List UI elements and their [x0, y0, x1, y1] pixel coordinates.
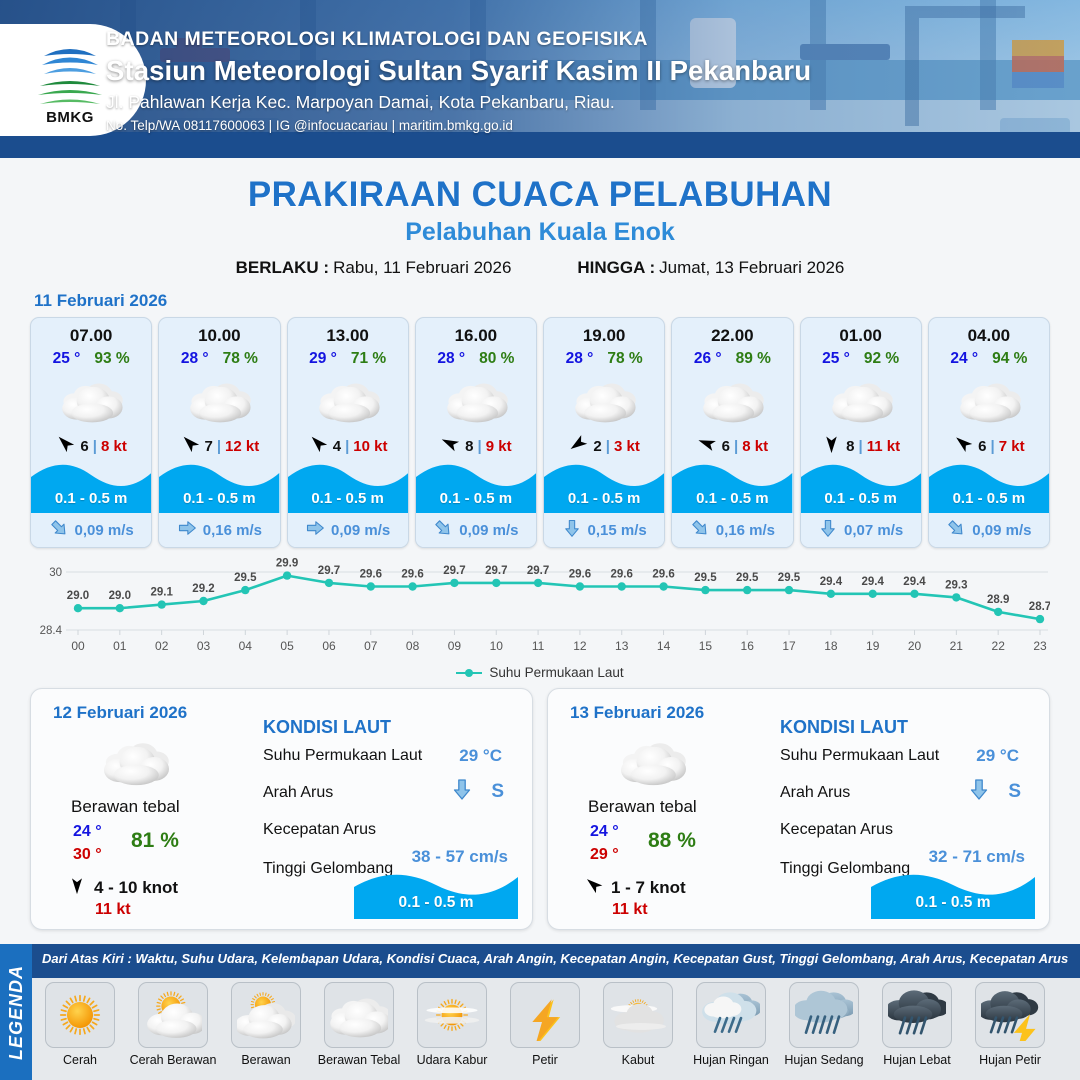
daily-weather-icon — [93, 733, 177, 794]
svg-text:29.4: 29.4 — [820, 576, 843, 588]
legend-items: Cerah Cerah Berawan — [36, 982, 1076, 1067]
legend-item-label: Cerah Berawan — [129, 1053, 217, 1067]
wind-direction-value: 7 — [205, 438, 213, 455]
legend-item-label: Hujan Petir — [966, 1053, 1054, 1067]
card-wind: 8 | 9 kt — [416, 431, 536, 461]
legend-icon-box — [882, 982, 952, 1048]
current-speed-value: 0,09 m/s — [459, 522, 518, 539]
sst-chart: 3028.429.00029.00129.10229.20329.50429.9… — [30, 558, 1050, 663]
svg-text:14: 14 — [657, 639, 671, 653]
svg-text:29.5: 29.5 — [778, 572, 801, 584]
daily-wave: 0.1 - 0.5 m — [871, 867, 1035, 919]
legend-icon-box — [789, 982, 859, 1048]
card-humidity: 89 % — [736, 350, 771, 368]
svg-text:22: 22 — [992, 639, 1006, 653]
svg-text:05: 05 — [280, 639, 294, 653]
sst-label: Suhu Permukaan Laut — [780, 747, 939, 765]
berlaku-value: Rabu, 11 Februari 2026 — [333, 258, 511, 277]
card-time: 16.00 — [416, 318, 536, 346]
svg-text:07: 07 — [364, 639, 378, 653]
weather-icon — [416, 371, 536, 429]
daily-wave-value: 0.1 - 0.5 m — [354, 894, 518, 912]
legend-item-label: Berawan Tebal — [315, 1053, 403, 1067]
card-temp-hum: 29 ° 71 % — [288, 350, 408, 368]
sst-legend-marker — [456, 668, 482, 678]
daily-gust: 11 kt — [95, 901, 131, 919]
legend-item: Hujan Lebat — [873, 982, 961, 1067]
legend-icon-box — [510, 982, 580, 1048]
weather-icon — [672, 371, 792, 429]
card-humidity: 94 % — [992, 350, 1027, 368]
legend-tab: LEGENDA — [0, 944, 32, 1080]
svg-text:03: 03 — [197, 639, 211, 653]
card-wind: 8 | 11 kt — [801, 431, 921, 461]
hourly-forecast-row: 07.00 25 ° 93 % — [0, 317, 1080, 548]
wind-direction-value: 4 — [333, 438, 341, 455]
wind-direction-value: 6 — [978, 438, 986, 455]
card-temperature: 25 ° — [53, 350, 81, 368]
wind-speed-value: 3 kt — [614, 438, 640, 455]
weather-icon — [288, 371, 408, 429]
daily-temp-max: 30 ° — [73, 846, 102, 864]
legend-icon-box — [231, 982, 301, 1048]
card-current: 0,09 m/s — [929, 513, 1049, 547]
header-bottom-bar — [0, 132, 1080, 158]
wind-direction-arrow-icon — [440, 433, 461, 459]
svg-text:04: 04 — [239, 639, 253, 653]
card-current: 0,09 m/s — [288, 513, 408, 547]
svg-text:29.2: 29.2 — [192, 583, 214, 595]
card-temperature: 24 ° — [950, 350, 978, 368]
card-temp-hum: 24 ° 94 % — [929, 350, 1049, 368]
weather-icon — [544, 371, 664, 429]
wind-divider: | — [859, 438, 863, 455]
card-humidity: 78 % — [223, 350, 258, 368]
legend-icon-box — [603, 982, 673, 1048]
svg-text:29.7: 29.7 — [443, 565, 465, 577]
sst-value: 29 °C — [459, 746, 502, 766]
legend-item-label: Udara Kabur — [408, 1053, 496, 1067]
card-time: 22.00 — [672, 318, 792, 346]
wind-direction-value: 2 — [593, 438, 601, 455]
card-temperature: 26 ° — [694, 350, 722, 368]
card-wind: 6 | 8 kt — [672, 431, 792, 461]
daily-condition: Berawan tebal — [588, 797, 697, 817]
svg-text:29.5: 29.5 — [694, 572, 717, 584]
wind-direction-arrow-icon — [568, 433, 589, 459]
weather-icon — [31, 371, 151, 429]
legend-item: Kabut — [594, 982, 682, 1067]
current-speed-value: 0,09 m/s — [972, 522, 1031, 539]
card-wind: 2 | 3 kt — [544, 431, 664, 461]
sst-chart-legend: Suhu Permukaan Laut — [0, 665, 1080, 680]
daily-wind-direction-arrow-icon — [584, 875, 604, 900]
wind-direction-arrow-icon — [308, 433, 329, 459]
card-time: 07.00 — [31, 318, 151, 346]
current-speed-value: 32 - 71 cm/s — [929, 847, 1025, 867]
current-speed-label: Kecepatan Arus — [780, 821, 893, 839]
bmkg-logo-text: BMKG — [22, 109, 118, 126]
current-speed-label: Kecepatan Arus — [263, 821, 376, 839]
card-temperature: 28 ° — [181, 350, 209, 368]
forecast-card[interactable]: 01.00 25 ° 92 % — [800, 317, 922, 548]
svg-text:19: 19 — [866, 639, 880, 653]
current-direction-arrow-icon — [562, 518, 582, 543]
svg-text:29.5: 29.5 — [736, 572, 759, 584]
svg-text:28.4: 28.4 — [40, 625, 63, 637]
daily-wave-value: 0.1 - 0.5 m — [871, 894, 1035, 912]
card-wind: 6 | 7 kt — [929, 431, 1049, 461]
card-time: 10.00 — [159, 318, 279, 346]
legend-item: Hujan Petir — [966, 982, 1054, 1067]
daily-wind-direction-arrow-icon — [67, 875, 87, 900]
legend-item: Petir — [501, 982, 589, 1067]
card-wave: 0.1 - 0.5 m — [416, 459, 536, 513]
page-subtitle: Pelabuhan Kuala Enok — [0, 218, 1080, 247]
legend-item: Cerah — [36, 982, 124, 1067]
weather-icon — [801, 371, 921, 429]
legend-item: Berawan Tebal — [315, 982, 403, 1067]
card-time: 01.00 — [801, 318, 921, 346]
current-direction-arrow-icon — [690, 518, 710, 543]
svg-text:28.9: 28.9 — [987, 594, 1009, 606]
current-speed-value: 0,15 m/s — [588, 522, 647, 539]
daily-wind-range: 1 - 7 knot — [611, 878, 686, 898]
wind-direction-value: 6 — [722, 438, 730, 455]
legend-icon-box — [138, 982, 208, 1048]
agency-name: BADAN METEOROLOGI KLIMATOLOGI DAN GEOFIS… — [106, 28, 811, 51]
forecast-card[interactable]: 22.00 26 ° 89 % — [671, 317, 793, 548]
wind-divider: | — [93, 438, 97, 455]
legend-icon-box — [45, 982, 115, 1048]
card-wind: 4 | 10 kt — [288, 431, 408, 461]
legend-item: Udara Kabur — [408, 982, 496, 1067]
legend-item: Cerah Berawan — [129, 982, 217, 1067]
wind-direction-arrow-icon — [180, 433, 201, 459]
page-header: BMKG BADAN METEOROLOGI KLIMATOLOGI DAN G… — [0, 0, 1080, 158]
card-wave: 0.1 - 0.5 m — [929, 459, 1049, 513]
legend-item-label: Hujan Lebat — [873, 1053, 961, 1067]
svg-text:29.5: 29.5 — [234, 572, 257, 584]
legend-item-label: Hujan Ringan — [687, 1053, 775, 1067]
wind-direction-arrow-icon — [821, 433, 842, 459]
wind-speed-value: 7 kt — [999, 438, 1025, 455]
station-address: Jl. Pahlawan Kerja Kec. Marpoyan Damai, … — [106, 92, 811, 113]
svg-text:09: 09 — [448, 639, 462, 653]
daily-forecast-panel[interactable]: 12 Februari 2026 Berawan tebal 24 ° 30 ° — [30, 688, 533, 930]
svg-text:18: 18 — [824, 639, 838, 653]
svg-text:30: 30 — [49, 567, 62, 579]
forecast-card[interactable]: 10.00 28 ° 78 % — [158, 317, 280, 548]
svg-text:29.4: 29.4 — [903, 576, 926, 588]
card-temp-hum: 25 ° 93 % — [31, 350, 151, 368]
daily-condition: Berawan tebal — [71, 797, 180, 817]
svg-text:29.0: 29.0 — [109, 590, 131, 602]
legend-icon-box — [696, 982, 766, 1048]
wind-direction-arrow-icon — [697, 433, 718, 459]
hingga-label: HINGGA : — [577, 258, 655, 277]
current-speed-value: 0,09 m/s — [75, 522, 134, 539]
card-temperature: 25 ° — [822, 350, 850, 368]
card-current: 0,16 m/s — [159, 513, 279, 547]
svg-text:12: 12 — [573, 639, 587, 653]
card-temp-hum: 25 ° 92 % — [801, 350, 921, 368]
svg-text:06: 06 — [322, 639, 336, 653]
daily-gust: 11 kt — [612, 901, 648, 919]
forecast-card[interactable]: 04.00 24 ° 94 % — [928, 317, 1050, 548]
svg-text:29.7: 29.7 — [485, 565, 507, 577]
card-temperature: 28 ° — [566, 350, 594, 368]
card-temp-hum: 26 ° 89 % — [672, 350, 792, 368]
svg-text:29.7: 29.7 — [527, 565, 549, 577]
validity-from: BERLAKU :Rabu, 11 Februari 2026 — [236, 258, 512, 278]
current-speed-value: 0,16 m/s — [203, 522, 262, 539]
svg-text:28.7: 28.7 — [1029, 601, 1050, 613]
current-direction-arrow-icon — [433, 518, 453, 543]
card-wave: 0.1 - 0.5 m — [159, 459, 279, 513]
validity-row: BERLAKU :Rabu, 11 Februari 2026 HINGGA :… — [0, 258, 1080, 278]
wave-height-value: 0.1 - 0.5 m — [544, 490, 664, 507]
card-temperature: 29 ° — [309, 350, 337, 368]
card-current: 0,09 m/s — [31, 513, 151, 547]
current-speed-value: 38 - 57 cm/s — [412, 847, 508, 867]
wind-divider: | — [991, 438, 995, 455]
current-speed-value: 0,07 m/s — [844, 522, 903, 539]
svg-text:29.0: 29.0 — [67, 590, 89, 602]
legend-item: Hujan Sedang — [780, 982, 868, 1067]
card-wind: 6 | 8 kt — [31, 431, 151, 461]
svg-text:29.6: 29.6 — [360, 569, 382, 581]
current-direction-label: Arah Arus — [780, 784, 850, 802]
daily-current-direction-arrow-icon — [450, 777, 474, 806]
card-temp-hum: 28 ° 78 % — [544, 350, 664, 368]
wind-divider: | — [606, 438, 610, 455]
svg-text:20: 20 — [908, 639, 922, 653]
wind-speed-value: 9 kt — [486, 438, 512, 455]
sea-conditions-title: KONDISI LAUT — [263, 717, 391, 738]
daily-wind-range: 4 - 10 knot — [94, 878, 178, 898]
card-current: 0,09 m/s — [416, 513, 536, 547]
sst-chart-svg: 3028.429.00029.00129.10229.20329.50429.9… — [30, 558, 1050, 663]
svg-text:29.6: 29.6 — [611, 569, 633, 581]
hourly-date-label: 11 Februari 2026 — [34, 291, 1080, 311]
card-wind: 7 | 12 kt — [159, 431, 279, 461]
svg-text:17: 17 — [782, 639, 796, 653]
card-time: 13.00 — [288, 318, 408, 346]
daily-humidity: 88 % — [648, 829, 696, 853]
svg-text:29.3: 29.3 — [945, 579, 967, 591]
svg-text:02: 02 — [155, 639, 169, 653]
svg-text:01: 01 — [113, 639, 127, 653]
card-time: 19.00 — [544, 318, 664, 346]
wind-speed-value: 10 kt — [353, 438, 387, 455]
wind-speed-value: 8 kt — [742, 438, 768, 455]
svg-text:29.6: 29.6 — [652, 569, 674, 581]
svg-text:13: 13 — [615, 639, 629, 653]
card-humidity: 78 % — [607, 350, 642, 368]
legend-icon-box — [975, 982, 1045, 1048]
daily-humidity: 81 % — [131, 829, 179, 853]
legend-item-label: Hujan Sedang — [780, 1053, 868, 1067]
current-direction-arrow-icon — [818, 518, 838, 543]
wind-speed-value: 8 kt — [101, 438, 127, 455]
berlaku-label: BERLAKU : — [236, 258, 330, 277]
card-humidity: 93 % — [94, 350, 129, 368]
hingga-value: Jumat, 13 Februari 2026 — [659, 258, 844, 277]
current-speed-value: 0,09 m/s — [331, 522, 390, 539]
sst-value: 29 °C — [976, 746, 1019, 766]
daily-weather-icon — [610, 733, 694, 794]
card-temperature: 28 ° — [437, 350, 465, 368]
wind-direction-arrow-icon — [55, 433, 76, 459]
card-wave: 0.1 - 0.5 m — [672, 459, 792, 513]
sea-conditions-title: KONDISI LAUT — [780, 717, 908, 738]
station-name: Stasiun Meteorologi Sultan Syarif Kasim … — [106, 55, 811, 87]
legend-item-label: Berawan — [222, 1053, 310, 1067]
current-direction-arrow-icon — [305, 518, 325, 543]
svg-text:00: 00 — [71, 639, 85, 653]
legend-note: Dari Atas Kiri : Waktu, Suhu Udara, Kele… — [42, 951, 1074, 966]
wave-height-value: 0.1 - 0.5 m — [159, 490, 279, 507]
svg-text:29.7: 29.7 — [318, 565, 340, 577]
forecast-card[interactable]: 07.00 25 ° 93 % — [30, 317, 152, 548]
daily-temp-min: 24 ° — [590, 823, 619, 841]
svg-text:29.6: 29.6 — [569, 569, 591, 581]
page-title: PRAKIRAAN CUACA PELABUHAN — [0, 175, 1080, 215]
card-wave: 0.1 - 0.5 m — [801, 459, 921, 513]
current-direction-label: Arah Arus — [263, 784, 333, 802]
legend-item-label: Kabut — [594, 1053, 682, 1067]
svg-text:16: 16 — [741, 639, 755, 653]
card-temp-hum: 28 ° 80 % — [416, 350, 536, 368]
wind-divider: | — [217, 438, 221, 455]
svg-text:10: 10 — [490, 639, 504, 653]
wave-height-value: 0.1 - 0.5 m — [31, 490, 151, 507]
wind-speed-value: 11 kt — [867, 438, 900, 455]
wave-height-value: 0.1 - 0.5 m — [672, 490, 792, 507]
wind-divider: | — [345, 438, 349, 455]
daily-temp-max: 29 ° — [590, 846, 619, 864]
daily-wave: 0.1 - 0.5 m — [354, 867, 518, 919]
svg-text:15: 15 — [699, 639, 713, 653]
daily-current-direction-arrow-icon — [967, 777, 991, 806]
validity-to: HINGGA :Jumat, 13 Februari 2026 — [577, 258, 844, 278]
card-humidity: 80 % — [479, 350, 514, 368]
card-temp-hum: 28 ° 78 % — [159, 350, 279, 368]
svg-text:08: 08 — [406, 639, 420, 653]
wave-height-value: 0.1 - 0.5 m — [288, 490, 408, 507]
wave-height-value: 0.1 - 0.5 m — [929, 490, 1049, 507]
legend-item: Berawan — [222, 982, 310, 1067]
card-humidity: 92 % — [864, 350, 899, 368]
wind-direction-value: 8 — [846, 438, 854, 455]
daily-date: 12 Februari 2026 — [53, 703, 187, 723]
current-direction-value: S — [1008, 781, 1021, 803]
legend-icon-box — [417, 982, 487, 1048]
svg-text:23: 23 — [1033, 639, 1047, 653]
legend-tab-label: LEGENDA — [6, 964, 27, 1059]
daily-wind: 1 - 7 knot — [584, 875, 686, 900]
daily-date: 13 Februari 2026 — [570, 703, 704, 723]
daily-wind: 4 - 10 knot — [67, 875, 178, 900]
daily-forecast-row: 12 Februari 2026 Berawan tebal 24 ° 30 ° — [0, 688, 1080, 930]
sst-label: Suhu Permukaan Laut — [263, 747, 422, 765]
wind-direction-value: 8 — [465, 438, 473, 455]
wind-divider: | — [734, 438, 738, 455]
legend-icon-box — [324, 982, 394, 1048]
wind-direction-value: 6 — [80, 438, 88, 455]
current-speed-value: 0,16 m/s — [716, 522, 775, 539]
forecast-card[interactable]: 19.00 28 ° 78 % — [543, 317, 665, 548]
legend-item-label: Petir — [501, 1053, 589, 1067]
legend-strip: Dari Atas Kiri : Waktu, Suhu Udara, Kele… — [0, 944, 1080, 1080]
wind-speed-value: 12 kt — [225, 438, 259, 455]
svg-text:21: 21 — [950, 639, 964, 653]
svg-text:29.9: 29.9 — [276, 558, 298, 570]
legend-item-label: Cerah — [36, 1053, 124, 1067]
wind-divider: | — [478, 438, 482, 455]
daily-temp-min: 24 ° — [73, 823, 102, 841]
wind-direction-arrow-icon — [953, 433, 974, 459]
sst-legend-label: Suhu Permukaan Laut — [489, 665, 623, 680]
card-current: 0,16 m/s — [672, 513, 792, 547]
card-current: 0,15 m/s — [544, 513, 664, 547]
card-humidity: 71 % — [351, 350, 386, 368]
station-contact: No. Telp/WA 08117600063 | IG @infocuacar… — [106, 118, 811, 133]
wave-height-value: 0.1 - 0.5 m — [416, 490, 536, 507]
forecast-card[interactable]: 13.00 29 ° 71 % — [287, 317, 409, 548]
wave-height-value: 0.1 - 0.5 m — [801, 490, 921, 507]
current-direction-value: S — [491, 781, 504, 803]
card-wave: 0.1 - 0.5 m — [288, 459, 408, 513]
card-current: 0,07 m/s — [801, 513, 921, 547]
current-direction-arrow-icon — [49, 518, 69, 543]
weather-icon — [159, 371, 279, 429]
legend-item: Hujan Ringan — [687, 982, 775, 1067]
svg-text:29.1: 29.1 — [151, 587, 174, 599]
svg-text:29.4: 29.4 — [862, 576, 885, 588]
svg-text:29.6: 29.6 — [401, 569, 423, 581]
card-wave: 0.1 - 0.5 m — [31, 459, 151, 513]
card-time: 04.00 — [929, 318, 1049, 346]
daily-forecast-panel[interactable]: 13 Februari 2026 Berawan tebal 24 ° 29 ° — [547, 688, 1050, 930]
card-wave: 0.1 - 0.5 m — [544, 459, 664, 513]
current-direction-arrow-icon — [946, 518, 966, 543]
svg-text:11: 11 — [532, 639, 545, 653]
forecast-card[interactable]: 16.00 28 ° 80 % — [415, 317, 537, 548]
weather-icon — [929, 371, 1049, 429]
current-direction-arrow-icon — [177, 518, 197, 543]
